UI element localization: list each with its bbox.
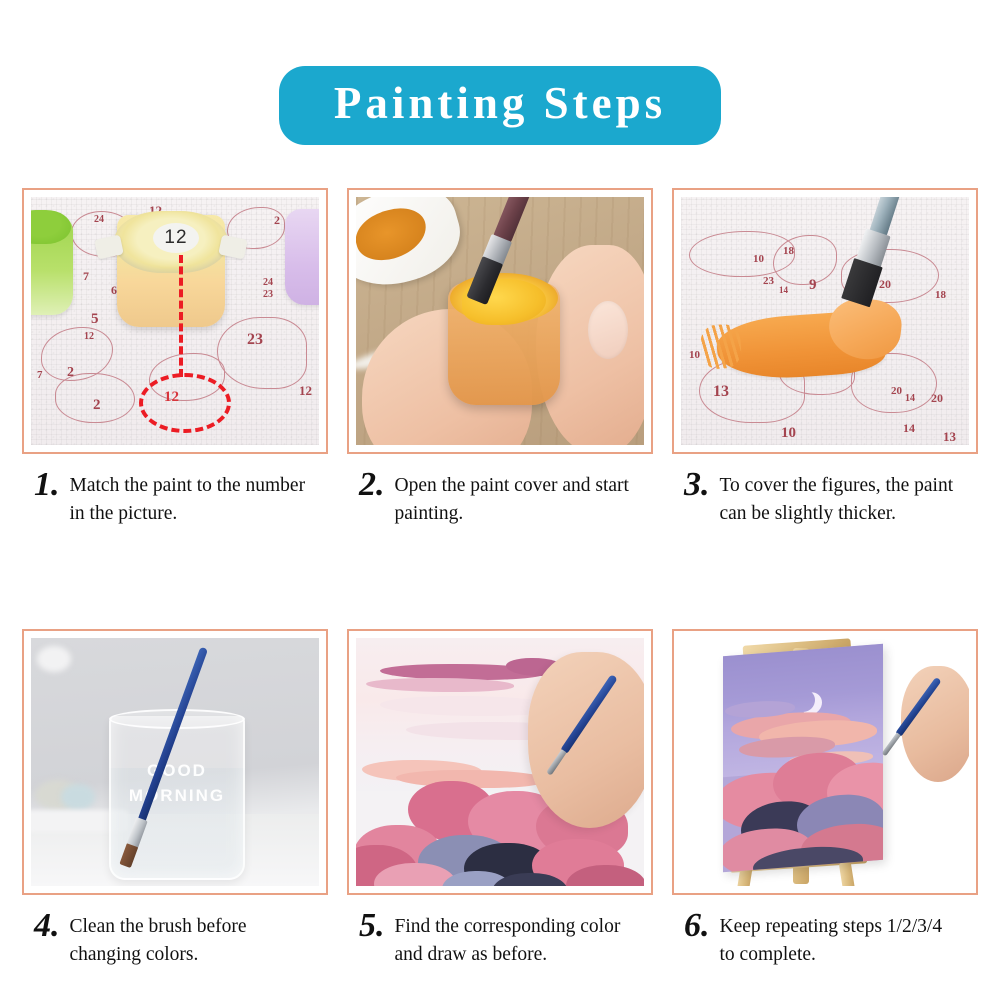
canvas-number: 18 xyxy=(783,245,794,257)
pot-tab-right xyxy=(218,235,248,260)
orange-brush-stroke-on-numbered-canvas-image: 10 18 23 14 9 20 18 20 10 13 20 14 20 10… xyxy=(681,197,969,445)
step-1-caption: 1. Match the paint to the number in the … xyxy=(22,472,332,529)
brush-bristles xyxy=(841,258,883,307)
canvas-number: 23 xyxy=(247,331,263,349)
step-number: 4. xyxy=(34,909,60,943)
canvas-number: 9 xyxy=(809,277,817,294)
purple-paint-pot xyxy=(285,209,319,305)
step-description: Match the paint to the number in the pic… xyxy=(70,472,308,529)
canvas-number: 13 xyxy=(713,383,729,401)
red-dashed-highlight-ellipse xyxy=(139,373,231,433)
page-title: Painting Steps xyxy=(325,80,675,127)
step-card-3: 10 18 23 14 9 20 18 20 10 13 20 14 20 10… xyxy=(672,188,982,529)
pot-tab-left xyxy=(94,235,124,260)
canvas-number: 24 xyxy=(94,214,104,225)
step-1-photo-frame: 12 24 2 7 6 5 12 2 7 2 23 24 23 12 xyxy=(22,188,328,454)
highlighted-region-number: 12 xyxy=(164,389,179,406)
step-description: Clean the brush before changing colors. xyxy=(70,913,308,970)
canvas-number: 2 xyxy=(93,397,101,414)
step-number: 2. xyxy=(359,468,385,502)
step-3-photo-frame: 10 18 23 14 9 20 18 20 10 13 20 14 20 10… xyxy=(672,188,978,454)
canvas-number: 10 xyxy=(781,425,796,442)
step-description: Open the paint cover and start painting. xyxy=(395,472,633,529)
canvas-number: 13 xyxy=(943,429,956,445)
green-paint-pot xyxy=(31,215,73,315)
blurred-object xyxy=(37,646,71,672)
step-2-caption: 2. Open the paint cover and start painti… xyxy=(347,472,657,529)
canvas-number: 18 xyxy=(935,289,946,301)
hand-holding-open-paint-pot-with-brush-image xyxy=(356,197,644,445)
canvas-number: 12 xyxy=(299,383,312,399)
fingernail xyxy=(588,301,628,359)
canvas-number: 24 xyxy=(263,277,273,288)
step-6-caption: 6. Keep repeating steps 1/2/3/4 to compl… xyxy=(672,913,982,970)
step-4-photo-frame: GOOD MORNING xyxy=(22,629,328,895)
red-dashed-pointer-line xyxy=(179,255,183,377)
canvas-number: 7 xyxy=(37,369,43,381)
brush-rinsing-in-water-glass-image: GOOD MORNING xyxy=(31,638,319,886)
canvas-number: 7 xyxy=(83,269,89,284)
pot-number-label: 12 xyxy=(153,223,199,253)
blurred-object xyxy=(61,784,95,810)
glass-text-line-1: GOOD xyxy=(111,758,243,784)
finished-canvas xyxy=(723,643,883,872)
step-number: 5. xyxy=(359,909,385,943)
canvas-number: 20 xyxy=(891,385,902,397)
canvas-number: 20 xyxy=(931,391,943,406)
step-number: 3. xyxy=(684,468,710,502)
canvas-number: 12 xyxy=(84,331,94,342)
step-description: Keep repeating steps 1/2/3/4 to complete… xyxy=(720,913,958,970)
step-description: To cover the figures, the paint can be s… xyxy=(720,472,958,529)
step-5-photo-frame xyxy=(347,629,653,895)
canvas-number: 23 xyxy=(263,289,273,300)
canvas-number: 14 xyxy=(779,285,788,295)
canvas-number: 2 xyxy=(274,213,280,228)
canvas-number: 14 xyxy=(905,393,915,404)
step-description: Find the corresponding color and draw as… xyxy=(395,913,633,970)
region-outline xyxy=(217,317,307,389)
cloud-band xyxy=(366,678,514,692)
step-4-caption: 4. Clean the brush before changing color… xyxy=(22,913,332,970)
steps-grid: 12 24 2 7 6 5 12 2 7 2 23 24 23 12 xyxy=(22,188,982,969)
yellow-paint-pot: 12 xyxy=(117,215,225,327)
canvas-number: 10 xyxy=(689,349,700,361)
canvas-number: 14 xyxy=(903,421,915,436)
paint-pot-on-numbered-canvas-image: 12 24 2 7 6 5 12 2 7 2 23 24 23 12 xyxy=(31,197,319,445)
step-2-photo-frame xyxy=(347,188,653,454)
step-card-4: GOOD MORNING 4. Clean the brush before c… xyxy=(22,629,332,970)
step-card-6: 6. Keep repeating steps 1/2/3/4 to compl… xyxy=(672,629,982,970)
step-6-photo-frame xyxy=(672,629,978,895)
header-pill: Painting Steps xyxy=(279,66,721,145)
step-card-5: 5. Find the corresponding color and draw… xyxy=(347,629,657,970)
glass-printed-text: GOOD MORNING xyxy=(111,758,243,809)
step-card-1: 12 24 2 7 6 5 12 2 7 2 23 24 23 12 xyxy=(22,188,332,529)
step-number: 1. xyxy=(34,468,60,502)
canvas-number: 2 xyxy=(67,365,74,381)
canvas-number: 23 xyxy=(763,275,774,287)
page-header: Painting Steps xyxy=(0,66,1000,145)
finished-painting-on-easel-image xyxy=(681,638,969,886)
step-3-caption: 3. To cover the figures, the paint can b… xyxy=(672,472,982,529)
open-paint-pot xyxy=(448,283,560,405)
step-5-caption: 5. Find the corresponding color and draw… xyxy=(347,913,657,970)
step-number: 6. xyxy=(684,909,710,943)
glass-text-line-2: MORNING xyxy=(111,783,243,809)
hand xyxy=(528,652,644,828)
hand-painting-cherry-blossom-canvas-image xyxy=(356,638,644,886)
canvas-artwork xyxy=(356,638,644,886)
canvas-number: 5 xyxy=(91,311,99,328)
step-card-2: 2. Open the paint cover and start painti… xyxy=(347,188,657,529)
canvas-number: 10 xyxy=(753,253,764,265)
